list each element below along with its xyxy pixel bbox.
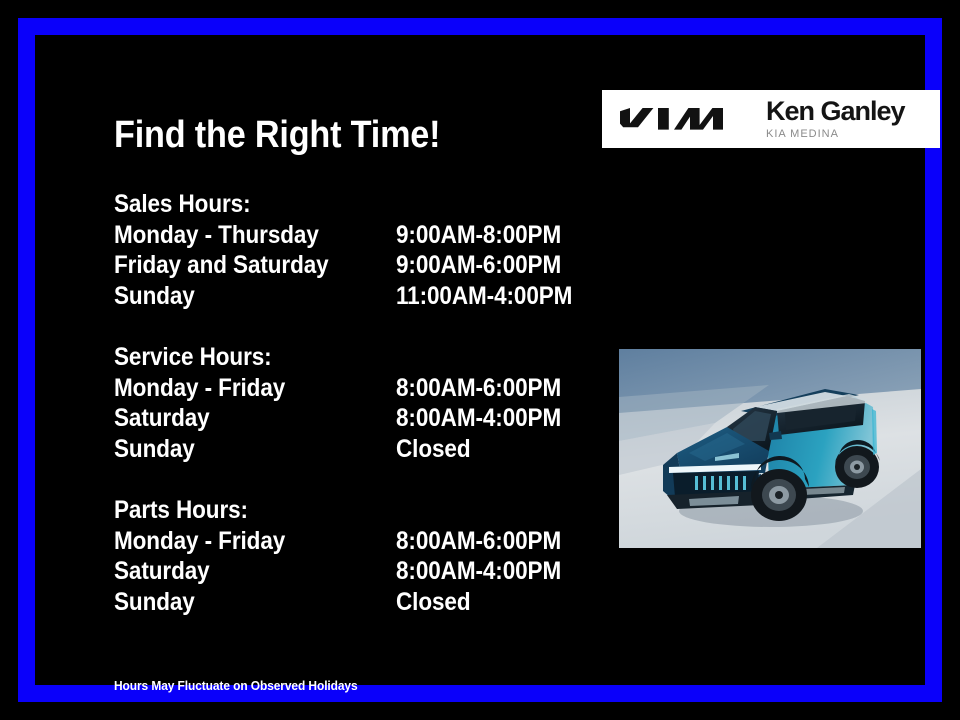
hours-heading: Parts Hours: xyxy=(114,495,582,526)
blue-border-frame: Find the Right Time! Ken Ganley KIA MEDI… xyxy=(18,18,942,702)
hours-heading: Service Hours: xyxy=(114,342,582,373)
hours-row: Monday - Friday 8:00AM-6:00PM xyxy=(114,373,634,404)
hours-row: Saturday 8:00AM-4:00PM xyxy=(114,556,634,587)
slide-canvas: Find the Right Time! Ken Ganley KIA MEDI… xyxy=(0,0,960,720)
hours-days: Saturday xyxy=(114,403,396,434)
hours-days: Monday - Friday xyxy=(114,526,396,557)
page-title: Find the Right Time! xyxy=(114,114,440,157)
vehicle-photo xyxy=(619,349,921,548)
kia-logo-mark xyxy=(618,105,738,133)
dealer-name: Ken Ganley xyxy=(766,98,905,125)
hours-time: 8:00AM-6:00PM xyxy=(396,526,579,557)
hours-time: Closed xyxy=(396,434,479,465)
hours-row: Sunday Closed xyxy=(114,434,634,465)
hours-days: Sunday xyxy=(114,587,396,618)
hours-time: 8:00AM-4:00PM xyxy=(396,556,579,587)
hours-time: 9:00AM-8:00PM xyxy=(396,220,579,251)
dealer-logo-card: Ken Ganley KIA MEDINA xyxy=(602,90,940,148)
hours-heading: Sales Hours: xyxy=(114,189,582,220)
hours-time: 8:00AM-6:00PM xyxy=(396,373,579,404)
hours-row: Monday - Thursday 9:00AM-8:00PM xyxy=(114,220,634,251)
hours-row: Monday - Friday 8:00AM-6:00PM xyxy=(114,526,634,557)
hours-days: Sunday xyxy=(114,281,396,312)
hours-block-service: Service Hours: Monday - Friday 8:00AM-6:… xyxy=(114,342,634,464)
hours-time: 9:00AM-6:00PM xyxy=(396,250,579,281)
hours-days: Monday - Thursday xyxy=(114,220,396,251)
hours-time: 11:00AM-4:00PM xyxy=(396,281,592,312)
hours-block-parts: Parts Hours: Monday - Friday 8:00AM-6:00… xyxy=(114,495,634,617)
hours-time: Closed xyxy=(396,587,479,618)
hours-days: Saturday xyxy=(114,556,396,587)
hours-row: Sunday Closed xyxy=(114,587,634,618)
dealer-location: KIA MEDINA xyxy=(766,129,905,140)
dealer-wordmark: Ken Ganley KIA MEDINA xyxy=(766,98,905,140)
hours-time: 8:00AM-4:00PM xyxy=(396,403,579,434)
hours-days: Friday and Saturday xyxy=(114,250,396,281)
hours-row: Friday and Saturday 9:00AM-6:00PM xyxy=(114,250,634,281)
hours-days: Sunday xyxy=(114,434,396,465)
hours-days: Monday - Friday xyxy=(114,373,396,404)
slide-content: Find the Right Time! Ken Ganley KIA MEDI… xyxy=(70,70,960,720)
hours-block-sales: Sales Hours: Monday - Thursday 9:00AM-8:… xyxy=(114,189,634,311)
hours-row: Saturday 8:00AM-4:00PM xyxy=(114,403,634,434)
footnote: Hours May Fluctuate on Observed Holidays xyxy=(114,678,358,693)
hours-row: Sunday 11:00AM-4:00PM xyxy=(114,281,634,312)
